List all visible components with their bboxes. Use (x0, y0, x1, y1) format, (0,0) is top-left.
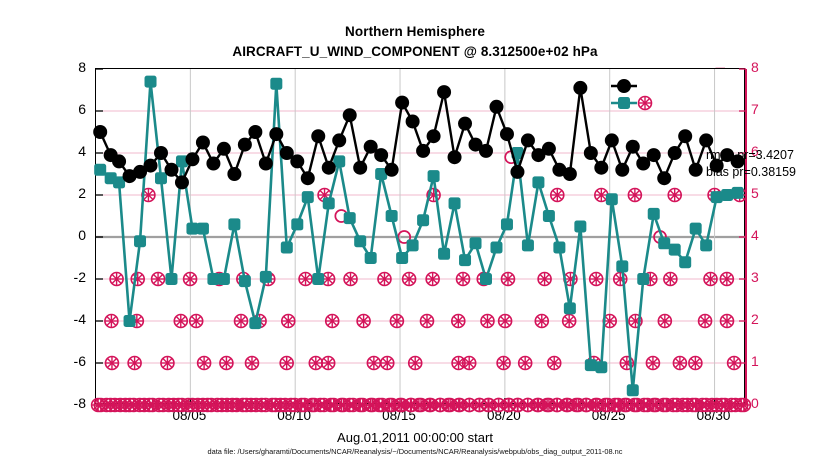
chart-page: Northern Hemisphere AIRCRAFT_U_WIND_COMP… (0, 0, 830, 470)
data-file-footnote: data file: /Users/gharamti/Documents/NCA… (0, 447, 830, 456)
y-tick-left-6: 6 (52, 101, 86, 117)
chart-legend: rmse pr=3.4207 bias pr=0.38159 (706, 147, 796, 181)
legend-bias: bias pr=0.38159 (706, 164, 796, 181)
legend-rmse: rmse pr=3.4207 (706, 147, 796, 164)
title-line-1: Northern Hemisphere (0, 22, 830, 42)
y-tick-right-8: 8 (751, 59, 785, 75)
y-tick-right-5: 5 (751, 185, 785, 201)
y-tick-left-0: 0 (52, 227, 86, 243)
chart-title: Northern Hemisphere AIRCRAFT_U_WIND_COMP… (0, 22, 830, 62)
y-tick-right-3: 3 (751, 269, 785, 285)
y-tick-left--2: -2 (52, 269, 86, 285)
y-tick-left-2: 2 (52, 185, 86, 201)
legend-glyphs (611, 79, 652, 110)
y-tick-left-8: 8 (52, 59, 86, 75)
plot-area: rmse pr=3.4207 bias pr=0.38159 (95, 68, 745, 404)
y-tick-right-0: 0 (751, 395, 785, 411)
plot-svg (96, 69, 746, 405)
title-line-2: AIRCRAFT_U_WIND_COMPONENT @ 8.312500e+02… (0, 42, 830, 62)
y-tick-right-1: 1 (751, 353, 785, 369)
x-axis-label: Aug.01,2011 00:00:00 start (0, 430, 830, 445)
y-tick-right-7: 7 (751, 101, 785, 117)
y-tick-left--4: -4 (52, 311, 86, 327)
y-tick-left--6: -6 (52, 353, 86, 369)
y-tick-right-2: 2 (751, 311, 785, 327)
y-tick-left-4: 4 (52, 143, 86, 159)
y-tick-right-4: 4 (751, 227, 785, 243)
y-tick-left--8: -8 (52, 395, 86, 411)
